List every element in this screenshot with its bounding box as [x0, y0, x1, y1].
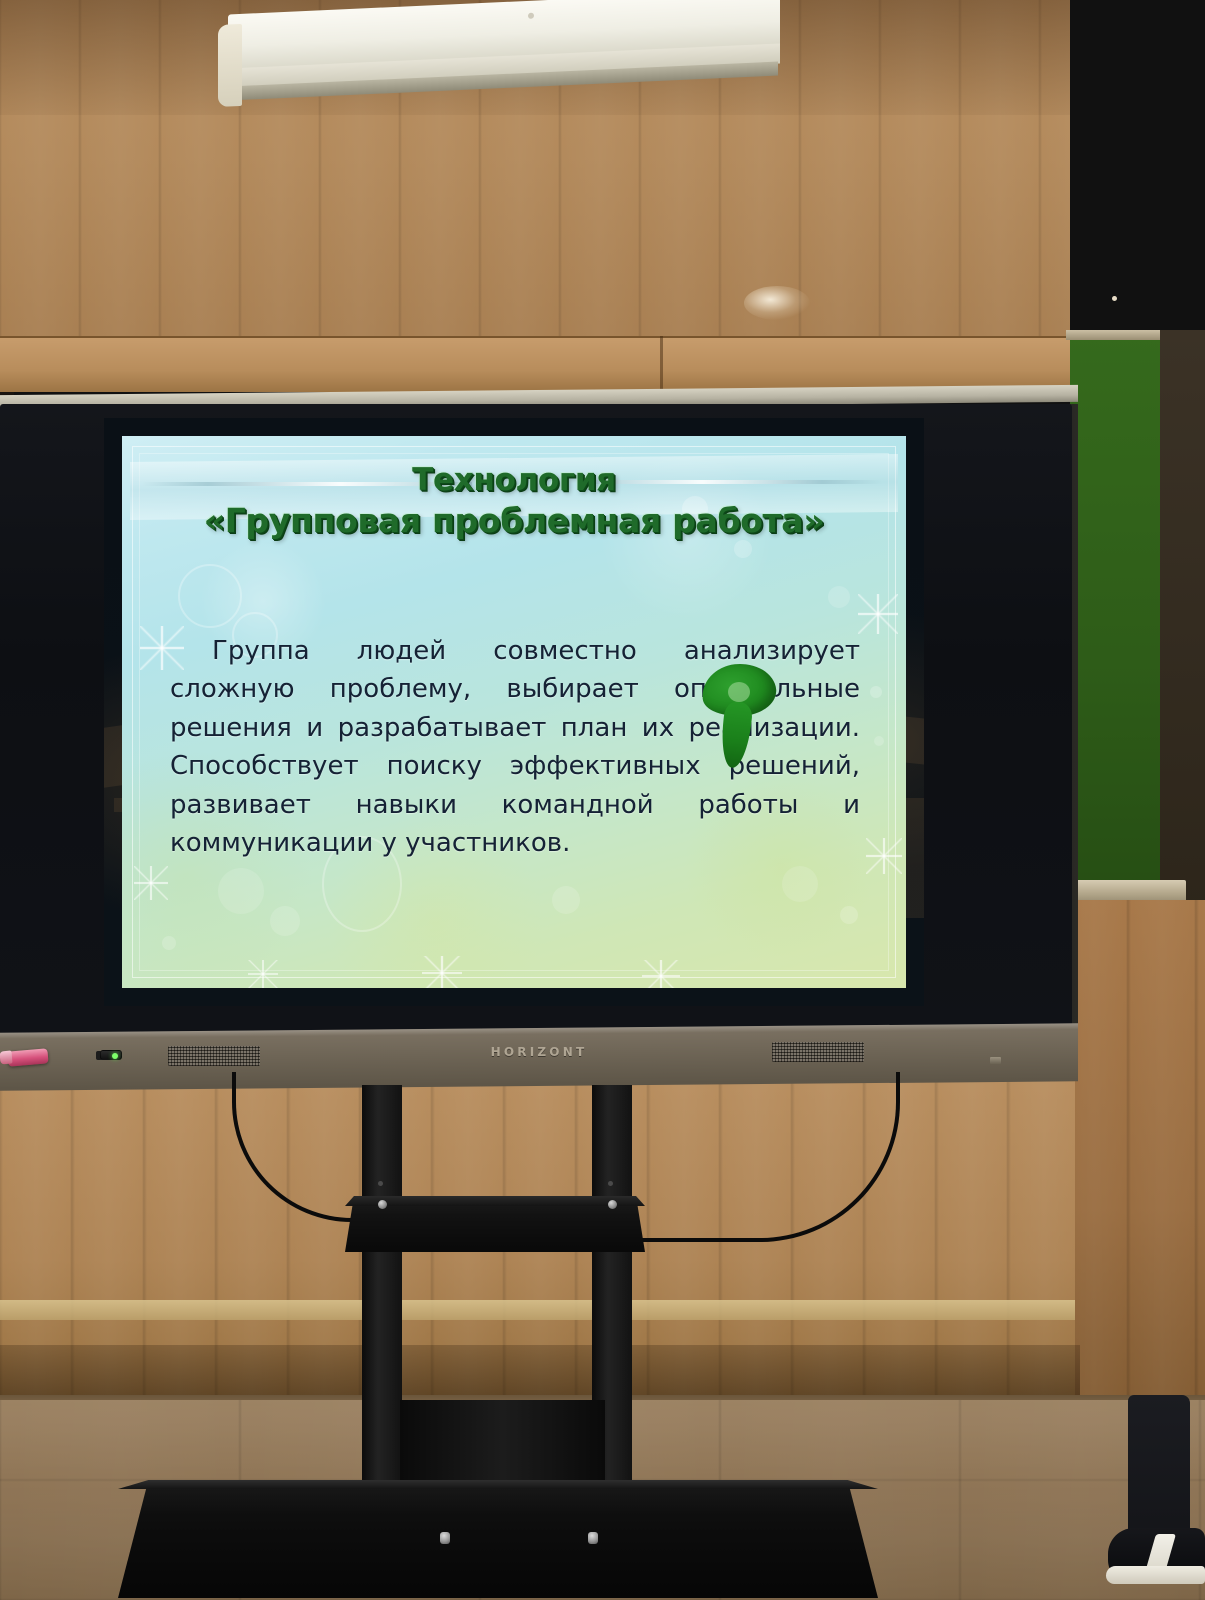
person-leg: [1128, 1395, 1190, 1545]
slide-body-text: Группа людей совместно анализирует сложн…: [170, 632, 860, 863]
cart-post-left: [362, 1085, 402, 1485]
base-screw: [588, 1532, 598, 1544]
wood-wall-right: [1060, 900, 1205, 1460]
shelf-screw: [378, 1200, 387, 1209]
presentation-slide[interactable]: Технология «Групповая проблемная работа»…: [122, 436, 906, 988]
light-end-cap: [218, 24, 242, 107]
green-chalkboard: [1070, 330, 1170, 930]
wall-baseboard-strip: [0, 1300, 1075, 1320]
wall-nail-dot: [1112, 296, 1117, 301]
post-screw: [378, 1181, 383, 1186]
post-screw: [608, 1181, 613, 1186]
slide-title-line1: Технология: [412, 462, 616, 498]
slide-title-line2: «Групповая проблемная работа»: [122, 502, 906, 541]
shelf-screw: [608, 1200, 617, 1209]
wall-scuff-mark: [744, 286, 810, 320]
display-brand-logo: HORIZONT: [0, 1045, 1078, 1059]
base-screw: [440, 1532, 450, 1544]
display-screen[interactable]: Технология «Групповая проблемная работа»…: [104, 418, 924, 1006]
interactive-display-panel[interactable]: Технология «Групповая проблемная работа»…: [0, 390, 1078, 1085]
shoe-sole: [1106, 1566, 1205, 1584]
cart-shelf-top: [345, 1196, 645, 1206]
cart-base-plate: [118, 1480, 878, 1598]
wall-trim-board: [0, 336, 1075, 392]
classroom-scene: Технология «Групповая проблемная работа»…: [0, 0, 1205, 1600]
wall-trim-seam: [660, 336, 663, 392]
slide-title: Технология «Групповая проблемная работа»: [122, 462, 906, 541]
cart-base-lip: [118, 1480, 878, 1489]
